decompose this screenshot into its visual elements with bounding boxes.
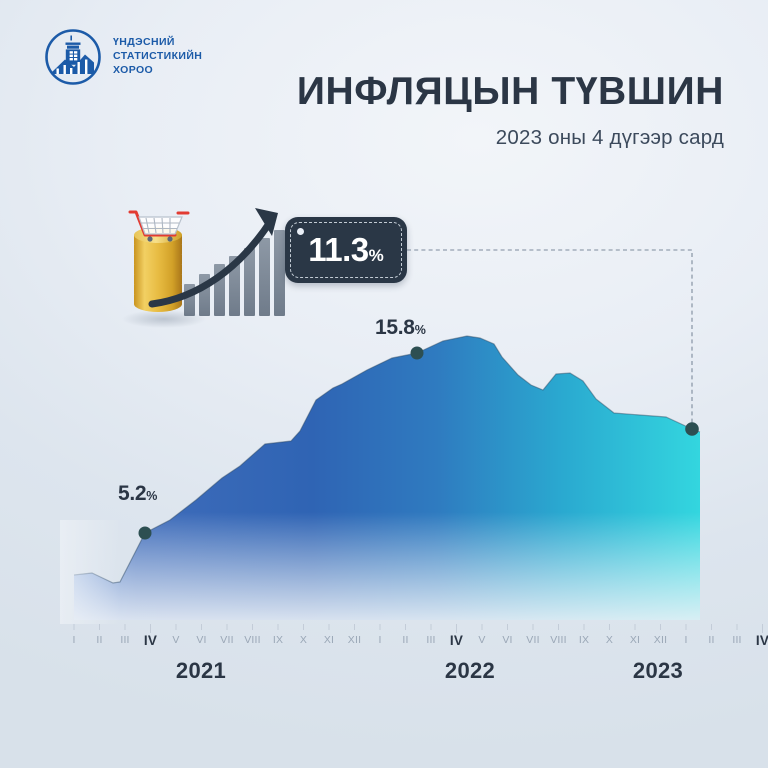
axis-tick-2022-iii: III xyxy=(426,634,435,646)
axis-tick-2021-iii: III xyxy=(120,634,129,646)
data-label-2022-iv: 15.8% xyxy=(375,316,426,340)
data-label-unit: % xyxy=(415,323,426,337)
marker-2022-iv xyxy=(411,347,424,360)
axis-tick-2022-vi: VI xyxy=(502,634,512,646)
axis-tick-2022-v: V xyxy=(478,634,485,646)
data-label-unit: % xyxy=(146,489,157,503)
infographic-canvas: Үндэсний статистикийн хороо ИНФЛЯЦЫН ТҮВ… xyxy=(0,0,768,768)
axis-tick-2023-iv: IV xyxy=(756,633,768,648)
axis-tick-2021-v: V xyxy=(172,634,179,646)
axis-year-2021: 2021 xyxy=(176,658,226,684)
axis-tick-2022-viii: VIII xyxy=(550,634,567,646)
data-label-2021-iv: 5.2% xyxy=(118,482,157,506)
axis-tick-2022-x: X xyxy=(606,634,613,646)
axis-tick-2022-xi: XI xyxy=(630,634,640,646)
axis-tick-2022-ix: IX xyxy=(579,634,589,646)
axis-tick-2021-vi: VI xyxy=(196,634,206,646)
axis-year-2022: 2022 xyxy=(445,658,495,684)
data-label-value: 5.2 xyxy=(118,482,146,505)
axis-tick-2022-vii: VII xyxy=(526,634,539,646)
data-label-value: 15.8 xyxy=(375,316,415,339)
axis-year-2023: 2023 xyxy=(633,658,683,684)
axis-tick-2021-xii: XII xyxy=(348,634,361,646)
axis-tick-2022-i: I xyxy=(378,634,381,646)
chart-x-axis: IIIIIIIVVVIVIIVIIIIXXXIXIIIIIIIIIVVVIVII… xyxy=(0,634,768,660)
axis-tick-2023-i: I xyxy=(684,634,687,646)
axis-tick-2023-iii: III xyxy=(732,634,741,646)
axis-tick-2021-ii: II xyxy=(96,634,102,646)
axis-tick-2022-xii: XII xyxy=(654,634,667,646)
marker-2021-iv xyxy=(139,527,152,540)
axis-tick-marks xyxy=(74,624,763,633)
axis-tick-2021-viii: VIII xyxy=(244,634,261,646)
axis-tick-2021-i: I xyxy=(72,634,75,646)
axis-tick-2021-vii: VII xyxy=(220,634,233,646)
axis-tick-2021-ix: IX xyxy=(273,634,283,646)
axis-tick-2021-xi: XI xyxy=(324,634,334,646)
axis-tick-2022-iv: IV xyxy=(450,633,463,648)
axis-tick-2023-ii: II xyxy=(708,634,714,646)
chart-area-series xyxy=(60,336,700,624)
axis-tick-2021-iv: IV xyxy=(144,633,157,648)
axis-tick-2022-ii: II xyxy=(402,634,408,646)
marker-2023-iv xyxy=(685,422,699,436)
axis-tick-2021-x: X xyxy=(300,634,307,646)
